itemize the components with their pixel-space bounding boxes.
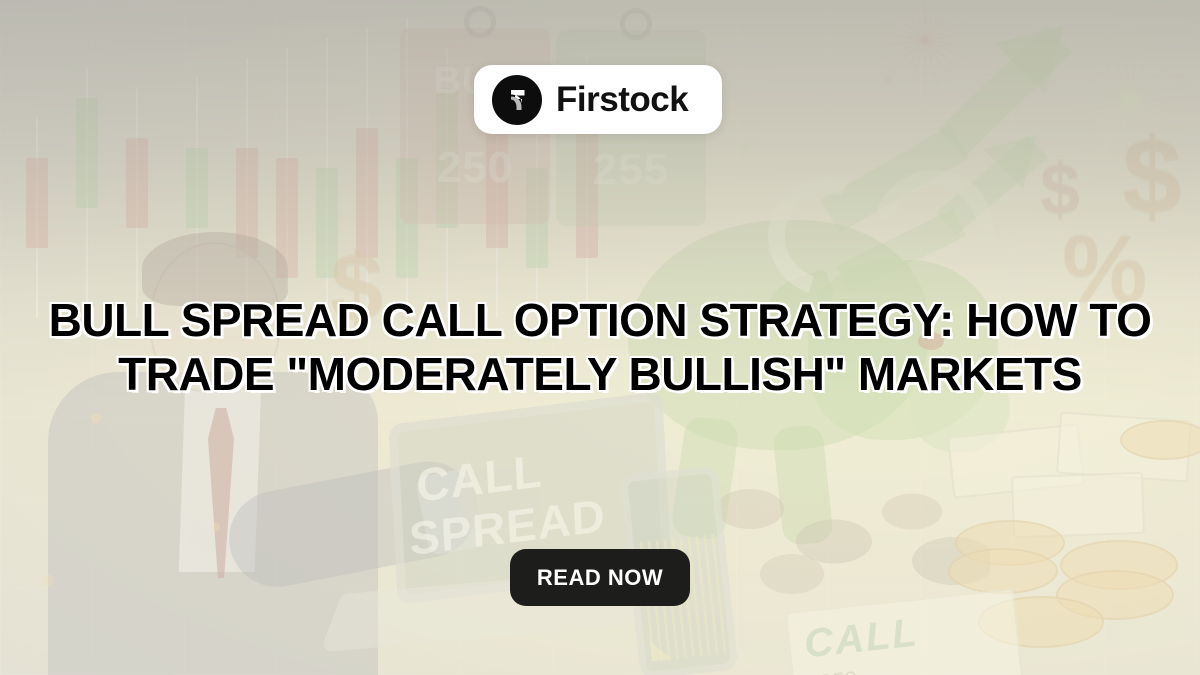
- brand-logo[interactable]: Firstock: [474, 65, 722, 134]
- headline-line-1: BULL SPREAD CALL OPTION STRATEGY: HOW TO: [6, 296, 1194, 344]
- firstock-arrow-icon: [492, 75, 542, 125]
- brand-name: Firstock: [556, 82, 688, 117]
- read-now-label: READ NOW: [537, 565, 663, 591]
- hero-banner: BUY 250 SELL 255 $ $ $ %: [0, 0, 1200, 675]
- read-now-button[interactable]: READ NOW: [510, 549, 690, 606]
- page-title: BULL SPREAD CALL OPTION STRATEGY: HOW TO…: [0, 296, 1200, 399]
- headline-line-2: TRADE "MODERATELY BULLISH" MARKETS: [6, 350, 1194, 398]
